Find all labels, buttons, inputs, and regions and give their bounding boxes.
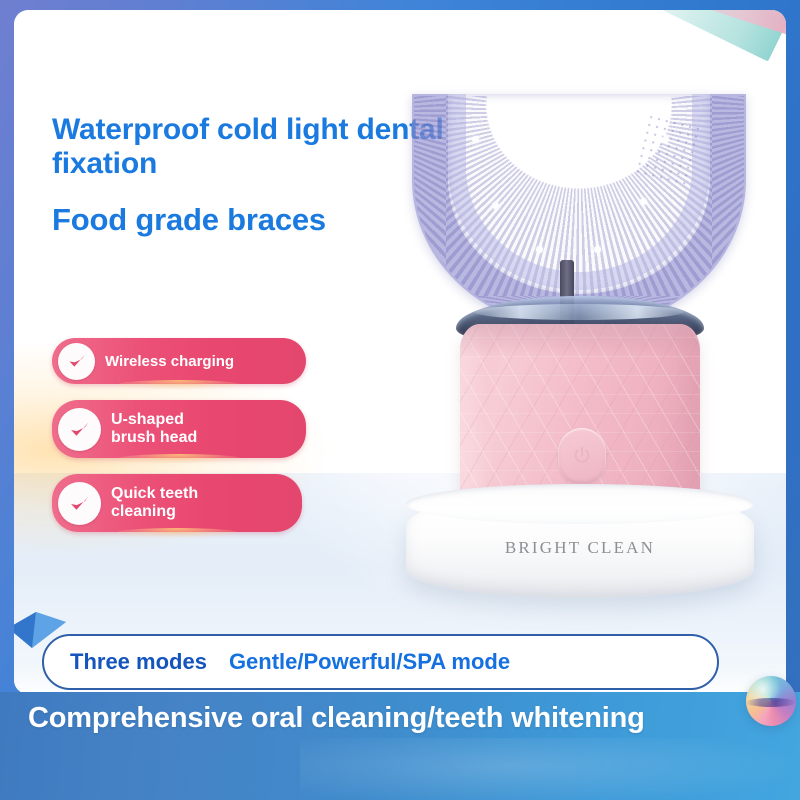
feature-badge[interactable]: Wireless charging	[52, 338, 306, 384]
check-icon	[58, 343, 95, 380]
brand-name: BRIGHT CLEAN	[406, 538, 754, 558]
three-modes-pill[interactable]: Three modes Gentle/Powerful/SPA mode	[42, 634, 719, 690]
check-icon	[58, 408, 101, 451]
advertisement-frame: Waterproof cold light dental fixation Fo…	[0, 0, 800, 800]
bottom-tagline: Comprehensive oral cleaning/teeth whiten…	[28, 700, 728, 736]
modes-value: Gentle/Powerful/SPA mode	[229, 649, 510, 675]
feature-badge[interactable]: Quick teeth cleaning	[52, 474, 302, 532]
product-image: BRIGHT CLEAN	[394, 80, 766, 625]
feature-badge-label: Wireless charging	[105, 353, 256, 370]
power-button[interactable]	[558, 428, 606, 484]
banner-sheen	[300, 738, 800, 800]
iridescent-sphere-band	[746, 698, 796, 707]
charging-base-top	[406, 484, 754, 524]
feature-badge-label: Quick teeth cleaning	[111, 485, 220, 521]
check-icon	[58, 482, 101, 525]
collar-highlight	[474, 304, 684, 320]
handle-shading	[460, 324, 700, 358]
u-shaped-brush-head-icon	[412, 94, 746, 330]
feature-badge-list: Wireless charging U-shaped brush head Qu…	[52, 338, 306, 548]
bottom-banner: Comprehensive oral cleaning/teeth whiten…	[0, 692, 800, 800]
modes-label: Three modes	[70, 649, 207, 675]
feature-badge[interactable]: U-shaped brush head	[52, 400, 306, 458]
feature-badge-label: U-shaped brush head	[111, 411, 219, 447]
product-card: Waterproof cold light dental fixation Fo…	[14, 10, 786, 694]
power-icon	[571, 445, 593, 467]
